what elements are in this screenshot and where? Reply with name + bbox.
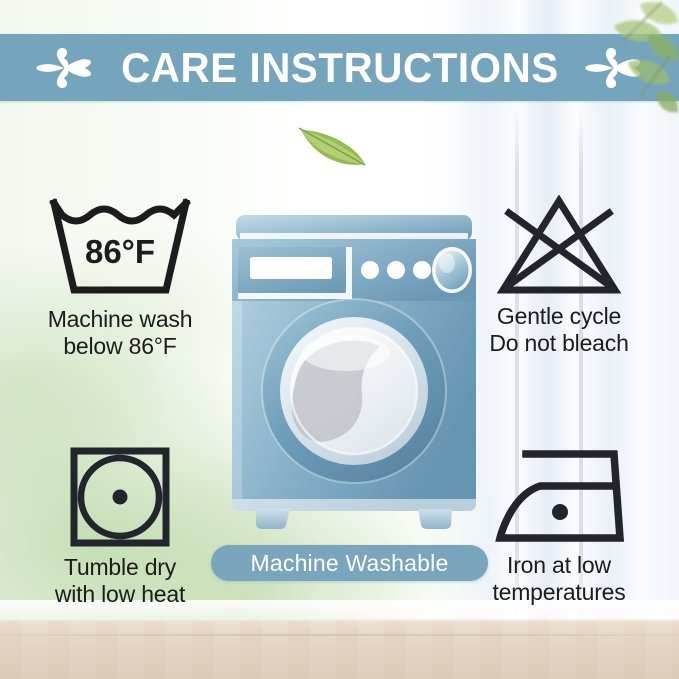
care-symbol-caption: Tumble dry with low heat (55, 554, 185, 608)
care-symbol-iron: Iron at low temperatures (447, 446, 671, 606)
fleur-de-lis-icon (585, 45, 643, 91)
tumble-dry-low-icon (69, 446, 171, 548)
care-symbol-tumble-dry: Tumble dry with low heat (8, 446, 232, 608)
green-leaf-icon (295, 120, 371, 172)
wooden-table-surface (0, 621, 679, 679)
fleur-de-lis-icon (36, 45, 94, 91)
care-symbol-do-not-bleach: Gentle cycle Do not bleach (447, 195, 671, 357)
page-title: CARE INSTRUCTIONS (121, 47, 559, 89)
wash-temperature-label: 86°F (85, 233, 155, 270)
wood-grain-line (0, 634, 679, 636)
washing-machine-illustration (228, 213, 480, 538)
do-not-bleach-triangle-icon (497, 195, 622, 297)
wash-tub-icon: 86°F (44, 195, 196, 300)
header-banner: CARE INSTRUCTIONS (0, 34, 679, 101)
care-symbol-caption: Machine wash below 86°F (48, 306, 193, 360)
care-symbol-caption: Iron at low temperatures (492, 552, 625, 606)
care-symbol-caption: Gentle cycle Do not bleach (489, 303, 628, 357)
care-symbol-machine-wash: 86°F Machine wash below 86°F (8, 195, 232, 360)
iron-low-heat-icon (492, 446, 627, 546)
machine-washable-badge: Machine Washable (211, 545, 488, 581)
badge-label: Machine Washable (251, 550, 449, 577)
care-instructions-infographic: CARE INSTRUCTIONS (0, 0, 679, 679)
